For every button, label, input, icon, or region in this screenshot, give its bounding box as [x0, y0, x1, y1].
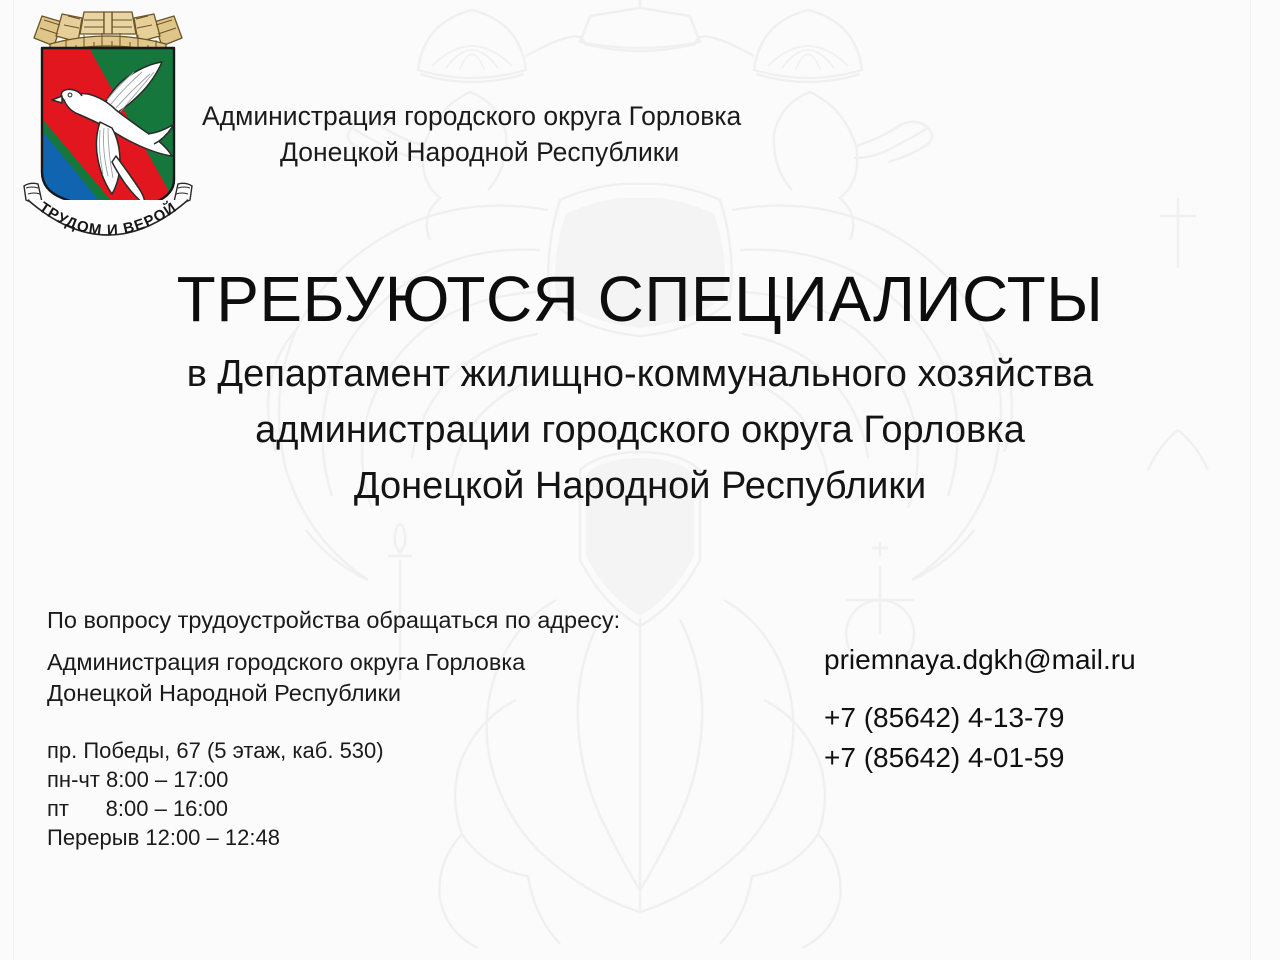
contact-address-and-hours: пр. Победы, 67 (5 этаж, каб. 530) пн-чт … — [47, 736, 384, 852]
hero-subtitle-line-1: в Департамент жилищно-коммунального хозя… — [0, 346, 1280, 402]
hero-block: ТРЕБУЮТСЯ СПЕЦИАЛИСТЫ в Департамент жили… — [0, 262, 1280, 514]
contact-phone-2[interactable]: +7 (85642) 4-01-59 — [824, 738, 1136, 778]
contact-lead-text: По вопросу трудоустройства обращаться по… — [47, 605, 620, 635]
announcement-poster: ТРУДОМ И ВЕРОЙ Администрация городского … — [0, 0, 1280, 960]
contact-email-and-phones: priemnaya.dgkh@mail.ru +7 (85642) 4-13-7… — [824, 642, 1136, 778]
contact-organization: Администрация городского округа Горловка… — [47, 647, 525, 709]
office-hours-fri: пт 8:00 – 16:00 — [47, 794, 384, 823]
header-line-1: Администрация городского округа Горловка — [202, 98, 902, 134]
contact-address: пр. Победы, 67 (5 этаж, каб. 530) — [47, 736, 384, 765]
coat-of-arms-gorlovka: ТРУДОМ И ВЕРОЙ — [16, 4, 200, 260]
contact-phone-list: +7 (85642) 4-13-79 +7 (85642) 4-01-59 — [824, 698, 1136, 778]
header-organization-name: Администрация городского округа Горловка… — [202, 98, 902, 170]
hero-subtitle-line-3: Донецкой Народной Республики — [0, 458, 1280, 514]
hero-subtitle-line-2: администрации городского округа Горловка — [0, 402, 1280, 458]
office-hours-break: Перерыв 12:00 – 12:48 — [47, 823, 384, 852]
contact-phone-1[interactable]: +7 (85642) 4-13-79 — [824, 698, 1136, 738]
contact-email[interactable]: priemnaya.dgkh@mail.ru — [824, 642, 1136, 678]
contact-organization-line-1: Администрация городского округа Горловка — [47, 647, 525, 678]
header-line-2: Донецкой Народной Республики — [202, 134, 902, 170]
office-hours-mon-thu: пн-чт 8:00 – 17:00 — [47, 765, 384, 794]
page-title: ТРЕБУЮТСЯ СПЕЦИАЛИСТЫ — [0, 262, 1280, 336]
hero-subtitle: в Департамент жилищно-коммунального хозя… — [0, 346, 1280, 514]
contact-organization-line-2: Донецкой Народной Республики — [47, 678, 525, 709]
